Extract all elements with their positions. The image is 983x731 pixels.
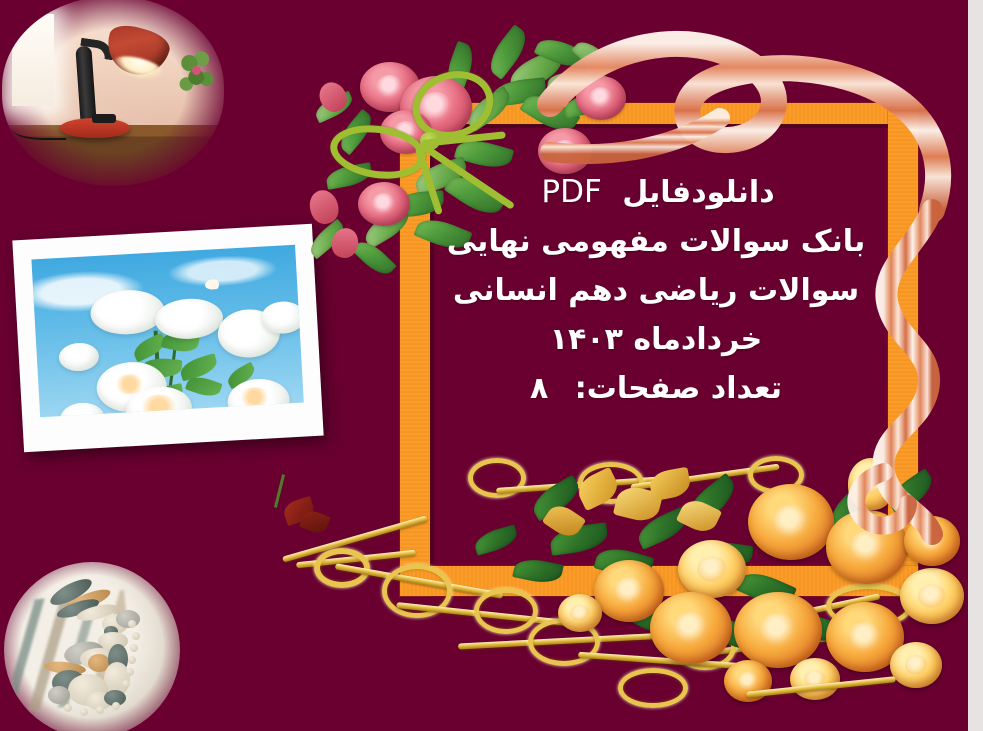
leaf (512, 555, 564, 586)
white-rose (89, 288, 165, 336)
lamp-switch (92, 114, 116, 123)
white-roses-photo (31, 245, 303, 417)
text-line-date: خردادماه ۱۴۰۳ (430, 315, 882, 364)
photo-bird (205, 279, 222, 290)
pebble-bead (64, 704, 72, 712)
white-roses-polaroid (12, 224, 323, 452)
right-edge-strip (968, 0, 983, 731)
desk-lamp-photo (2, 0, 224, 186)
leaf (472, 524, 520, 555)
lamp-window (12, 14, 54, 106)
text-line-download: دانلودفایل PDF (430, 168, 882, 217)
page-count-label: تعداد صفحات: (575, 371, 782, 406)
banner-canvas: دانلودفایل PDF بانک سوالات مفهومی نهایی … (0, 0, 983, 731)
accent-stem (274, 474, 285, 508)
pebble-bead (126, 668, 134, 676)
text-line-subject: سوالات ریاضی دهم انسانی (430, 266, 882, 315)
pebble-bead (80, 708, 88, 716)
orange-rose-bud (790, 658, 840, 700)
page-count-value: ۸ (530, 371, 564, 406)
pebble-rabbit-photo (4, 562, 180, 731)
rose-center (239, 386, 270, 408)
orange-rose-bud (848, 458, 894, 510)
pink-rose (358, 182, 410, 226)
pink-rose (576, 76, 626, 120)
pebble-bead (96, 706, 104, 714)
orange-rose (904, 516, 960, 566)
text-line-page-count: تعداد صفحات: ۸ (430, 364, 882, 413)
white-rose-bud (58, 342, 100, 372)
pebble-bead (130, 644, 138, 652)
orchid (648, 467, 692, 502)
pebble (48, 686, 70, 704)
download-label: دانلودفایل (622, 175, 774, 210)
orange-rose-bud (890, 642, 942, 688)
lamp-cord (12, 122, 66, 140)
white-rose (154, 297, 224, 341)
pebble-bead (122, 680, 130, 688)
pebble-bead (128, 656, 136, 664)
pebble-bead (128, 620, 136, 628)
orange-rose (734, 592, 822, 668)
orange-rose (678, 540, 746, 598)
format-label: PDF (537, 174, 611, 210)
text-line-question-bank: بانک سوالات مفهومی نهایی (430, 217, 882, 266)
white-rose (60, 402, 106, 418)
orange-rose-gold-spray (278, 452, 978, 702)
banner-text: دانلودفایل PDF بانک سوالات مفهومی نهایی … (430, 168, 882, 413)
lamp-plant-bloom (192, 66, 201, 75)
orange-rose-bud (558, 594, 602, 632)
orange-rose (650, 592, 732, 664)
pebble-bead (132, 632, 140, 640)
pebble-bead (112, 702, 120, 710)
gold-swirl (618, 668, 688, 708)
orange-rose (748, 484, 834, 560)
orange-rose (826, 510, 908, 584)
orange-rose (900, 568, 964, 624)
gold-swirl (474, 588, 538, 634)
